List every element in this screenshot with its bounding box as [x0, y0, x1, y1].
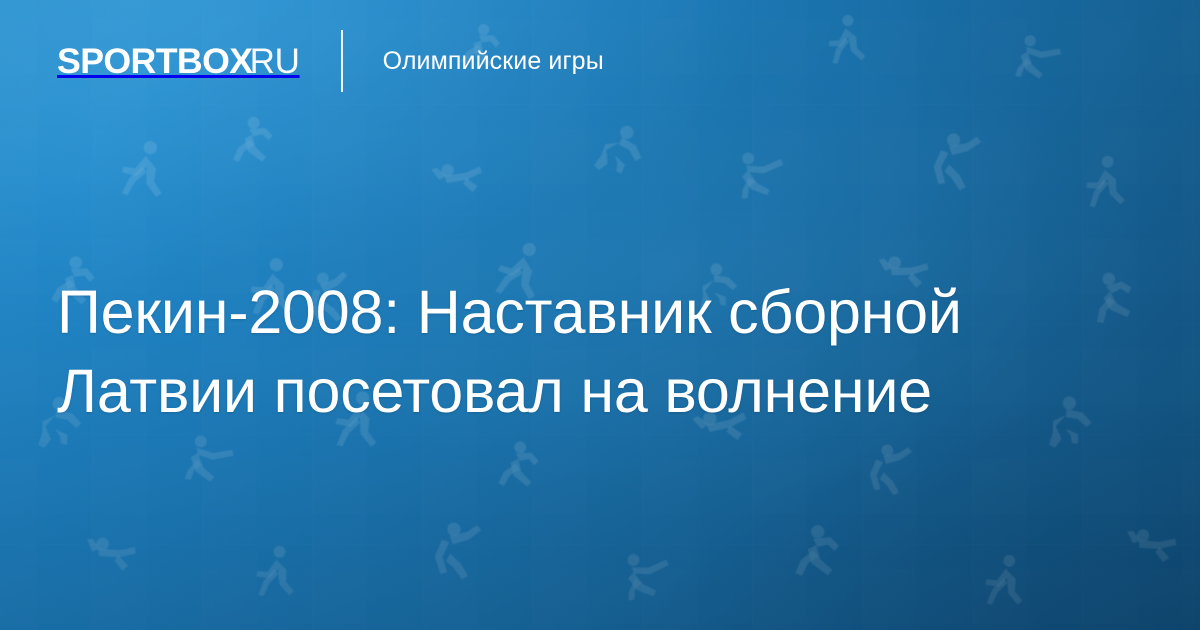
header-divider	[341, 30, 343, 92]
share-card: SPORTBOXRU Олимпийские игры Пекин-2008: …	[0, 0, 1200, 630]
sportbox-logo[interactable]: SPORTBOXRU	[57, 44, 300, 79]
section-label: Олимпийские игры	[383, 47, 604, 76]
header: SPORTBOXRU Олимпийские игры	[57, 30, 604, 92]
logo-main-text: SPORTBOX	[57, 44, 252, 79]
page-title: Пекин-2008: Наставник сборной Латвии пос…	[57, 273, 1117, 431]
headline-line-2: Латвии посетовал на волнение	[57, 352, 1117, 431]
logo-tld-text: RU	[250, 44, 300, 79]
headline-line-1: Пекин-2008: Наставник сборной	[57, 273, 1117, 352]
